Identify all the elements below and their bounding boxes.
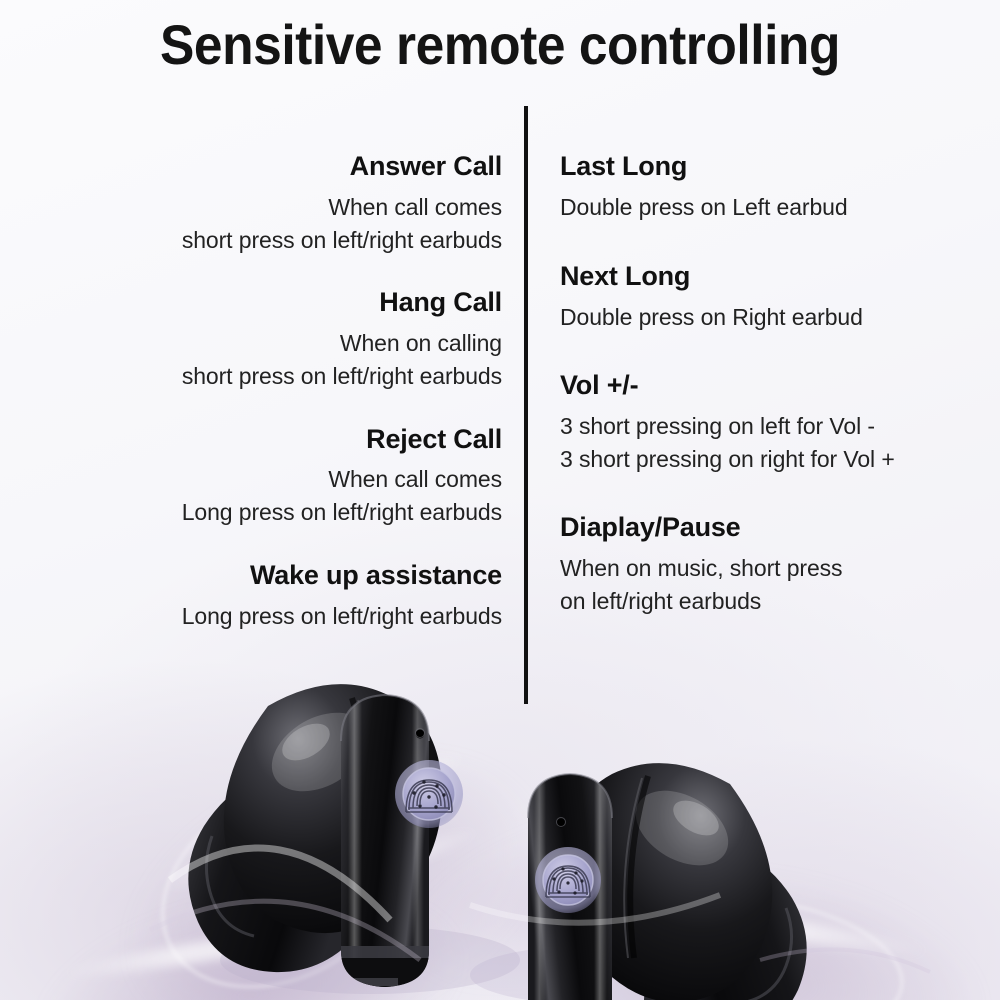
background-glass-edge (612, 881, 912, 1000)
feature-item: Wake up assistance Long press on left/ri… (80, 559, 502, 633)
touch-control-pad (535, 847, 601, 913)
surface-reflections (150, 848, 930, 972)
feature-line: Double press on Left earbud (560, 191, 960, 224)
feature-item: Answer Call When call comes short press … (80, 150, 502, 256)
fingerprint-dots (412, 780, 445, 808)
feature-item: Hang Call When on calling short press on… (80, 286, 502, 392)
feature-line: When call comes (80, 191, 502, 224)
feature-title: Hang Call (80, 286, 502, 319)
earbud-stem (341, 695, 429, 987)
feature-line: When call comes (80, 463, 502, 496)
feature-line: short press on left/right earbuds (80, 224, 502, 257)
column-divider (524, 106, 528, 704)
feature-line: 3 short pressing on right for Vol + (560, 443, 960, 476)
microphone-hole (557, 819, 566, 828)
feature-title: Answer Call (80, 150, 502, 183)
page-title: Sensitive remote controlling (40, 12, 960, 77)
feature-line: Long press on left/right earbuds (80, 496, 502, 529)
feature-item: Next Long Double press on Right earbud (560, 260, 960, 334)
background-light-streak (159, 742, 471, 900)
right-earbud (470, 763, 807, 1000)
background-light-streak (600, 890, 929, 961)
background-light-streak (60, 912, 389, 983)
microphone-hole (416, 730, 425, 739)
ear-tip-nozzle (644, 836, 807, 1000)
feature-item: Last Long Double press on Left earbud (560, 150, 960, 224)
infographic-page: Sensitive remote controlling Answer Call… (0, 0, 1000, 1000)
feature-line: When on calling (80, 327, 502, 360)
feature-line: 3 short pressing on left for Vol - (560, 410, 960, 443)
feature-title: Diaplay/Pause (560, 511, 960, 544)
feature-title: Next Long (560, 260, 960, 293)
background-swirl-reflection (546, 845, 994, 1000)
background-glass-edge (127, 746, 438, 1000)
fingerprint-dots (552, 867, 583, 894)
background-swirl-reflection (25, 858, 475, 1000)
feature-line: short press on left/right earbuds (80, 360, 502, 393)
feature-list-left: Answer Call When call comes short press … (80, 150, 502, 662)
feature-line: Double press on Right earbud (560, 301, 960, 334)
feature-title: Reject Call (80, 423, 502, 456)
feature-list-right: Last Long Double press on Left earbud Ne… (560, 150, 960, 654)
feature-line: on left/right earbuds (560, 585, 960, 618)
feature-title: Wake up assistance (80, 559, 502, 592)
background-swirl-reflection (386, 768, 775, 1000)
fingerprint-icon (406, 780, 452, 812)
earbud-stem (528, 774, 612, 1000)
feature-title: Vol +/- (560, 369, 960, 402)
background-light-streak (196, 821, 484, 941)
touch-control-pad (395, 760, 463, 828)
ear-housing (562, 763, 772, 1000)
ear-tip-nozzle (188, 760, 360, 972)
feature-item: Vol +/- 3 short pressing on left for Vol… (560, 369, 960, 475)
fingerprint-icon (546, 866, 590, 897)
feature-title: Last Long (560, 150, 960, 183)
left-earbud (188, 684, 520, 1000)
background-swirl-reflection (89, 699, 581, 1000)
feature-item: Diaplay/Pause When on music, short press… (560, 511, 960, 617)
ear-housing (224, 684, 442, 933)
feature-line: When on music, short press (560, 552, 960, 585)
feature-line: Long press on left/right earbuds (80, 600, 502, 633)
feature-item: Reject Call When call comes Long press o… (80, 423, 502, 529)
